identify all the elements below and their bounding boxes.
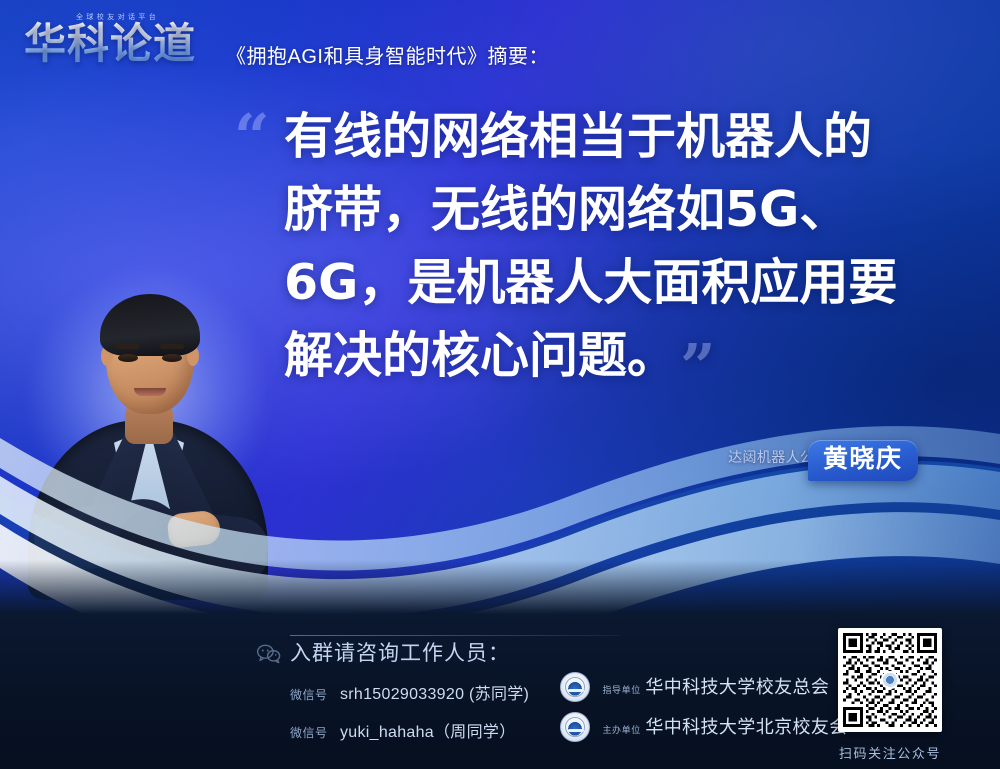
portrait-hair — [100, 294, 200, 356]
quote-line: 有线的网络相当于机器人的 — [284, 100, 972, 173]
brand-logo: 全球校友对话平台 华科论道 — [24, 12, 220, 70]
quote-block: “ 有线的网络相当于机器人的 脐带，无线的网络如5G、 6G，是机器人大面积应用… — [232, 100, 972, 392]
poster-root: 全球校友对话平台 华科论道 《拥抱AGI和具身智能时代》摘要： “ 有线的网络相… — [0, 0, 1000, 769]
org-row: 主办单位 华中科技大学北京校友会 — [560, 712, 848, 742]
quote-open-icon: “ — [234, 106, 270, 168]
qr-caption: 扫码关注公众号 — [838, 743, 942, 762]
org-text: 指导单位 华中科技大学校友总会 — [602, 677, 829, 698]
header: 全球校友对话平台 华科论道 《拥抱AGI和具身智能时代》摘要： — [0, 0, 1000, 88]
portrait-eye-left — [118, 354, 138, 362]
qr-code-image — [843, 633, 937, 727]
qr-block: 扫码关注公众号 — [838, 628, 942, 762]
org-kind: 指导单位 — [602, 685, 640, 695]
join-group-title: 入群请咨询工作人员： — [290, 637, 510, 667]
wechat-icon — [256, 643, 282, 665]
quote-line: 脐带，无线的网络如5G、 — [284, 173, 972, 246]
footer-divider — [290, 635, 620, 636]
portrait-mouth — [134, 388, 166, 396]
university-emblem-icon — [560, 672, 590, 702]
quote-line-text: 解决的核心问题。 — [284, 327, 676, 384]
brand-logo-title: 华科论道 — [24, 21, 196, 67]
org-text: 主办单位 华中科技大学北京校友会 — [602, 717, 847, 738]
university-emblem-icon — [560, 712, 590, 742]
org-row: 指导单位 华中科技大学校友总会 — [560, 672, 829, 702]
quote-text: 有线的网络相当于机器人的 脐带，无线的网络如5G、 6G，是机器人大面积应用要 … — [284, 100, 972, 392]
org-name: 华中科技大学校友总会 — [645, 677, 829, 697]
quote-line: 6G，是机器人大面积应用要 — [284, 246, 972, 319]
portrait-eye-right — [162, 354, 182, 362]
qr-code[interactable] — [838, 628, 942, 732]
speaker-name-badge: 黄晓庆 — [808, 440, 918, 481]
contact-value[interactable]: yuki_hahaha（周同学） — [340, 724, 516, 741]
quote-close-icon: ” — [680, 336, 716, 398]
contact-label: 微信号 — [290, 688, 328, 702]
contact-value[interactable]: srh15029033920 (苏同学) — [340, 686, 529, 703]
quote-line: 解决的核心问题。” — [284, 319, 972, 392]
org-name: 华中科技大学北京校友会 — [645, 717, 847, 737]
contact-label: 微信号 — [290, 726, 328, 740]
org-kind: 主办单位 — [602, 725, 640, 735]
portrait-brow-left — [116, 344, 140, 349]
page-title: 《拥抱AGI和具身智能时代》摘要： — [226, 40, 549, 69]
contact-row: 微信号 yuki_hahaha（周同学） — [290, 718, 516, 742]
portrait-brow-right — [160, 344, 184, 349]
contact-row: 微信号 srh15029033920 (苏同学) — [290, 680, 529, 704]
